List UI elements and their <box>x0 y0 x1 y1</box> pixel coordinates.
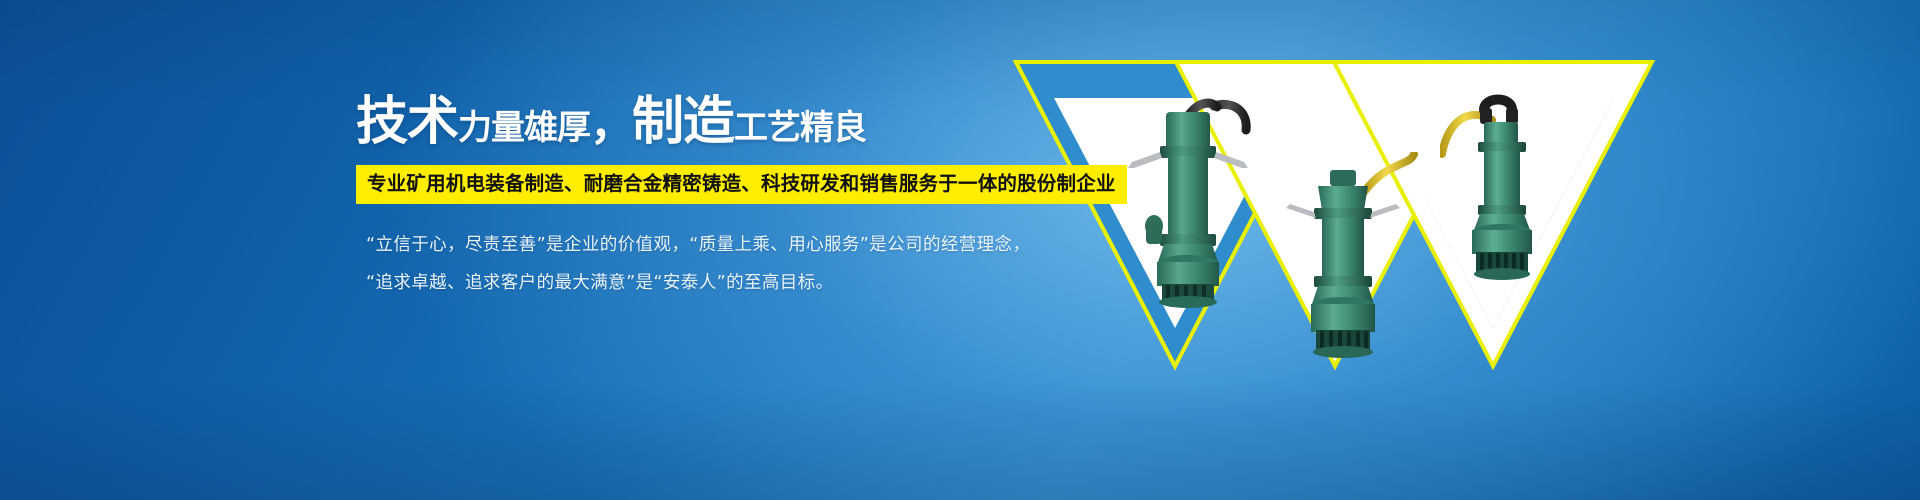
page-title: 技术力量雄厚，制造工艺精良 <box>356 96 956 148</box>
headline-comma: ， <box>590 100 632 149</box>
description-line-1: “立信于心，尽责至善”是企业的价值观，“质量上乘、用心服务”是公司的经营理念， <box>356 226 956 264</box>
product-image-submersible-sewage-pump-large <box>1118 86 1258 316</box>
headline-segment-2: 力量雄厚 <box>458 108 590 148</box>
banner-description: “立信于心，尽责至善”是企业的价值观，“质量上乘、用心服务”是公司的经营理念， … <box>356 226 956 302</box>
product-image-submersible-pump-with-handle <box>1440 76 1590 291</box>
subtitle-highlight-bar: 专业矿用机电装备制造、耐磨合金精密铸造、科技研发和销售服务于一体的股份制企业 <box>356 165 1127 204</box>
promo-banner: 技术力量雄厚，制造工艺精良 专业矿用机电装备制造、耐磨合金精密铸造、科技研发和销… <box>0 0 1920 500</box>
banner-text-block: 技术力量雄厚，制造工艺精良 专业矿用机电装备制造、耐磨合金精密铸造、科技研发和销… <box>356 96 956 302</box>
headline-segment-3: 制造 <box>632 92 734 152</box>
product-image-submersible-drainage-pump-yellow-cable <box>1278 152 1418 372</box>
headline-segment-4: 工艺精良 <box>734 108 866 148</box>
description-line-2: “追求卓越、追求客户的最大满意”是“安泰人”的至高目标。 <box>356 264 956 302</box>
product-showcase <box>1010 56 1910 376</box>
headline-segment-1: 技术 <box>356 92 458 152</box>
